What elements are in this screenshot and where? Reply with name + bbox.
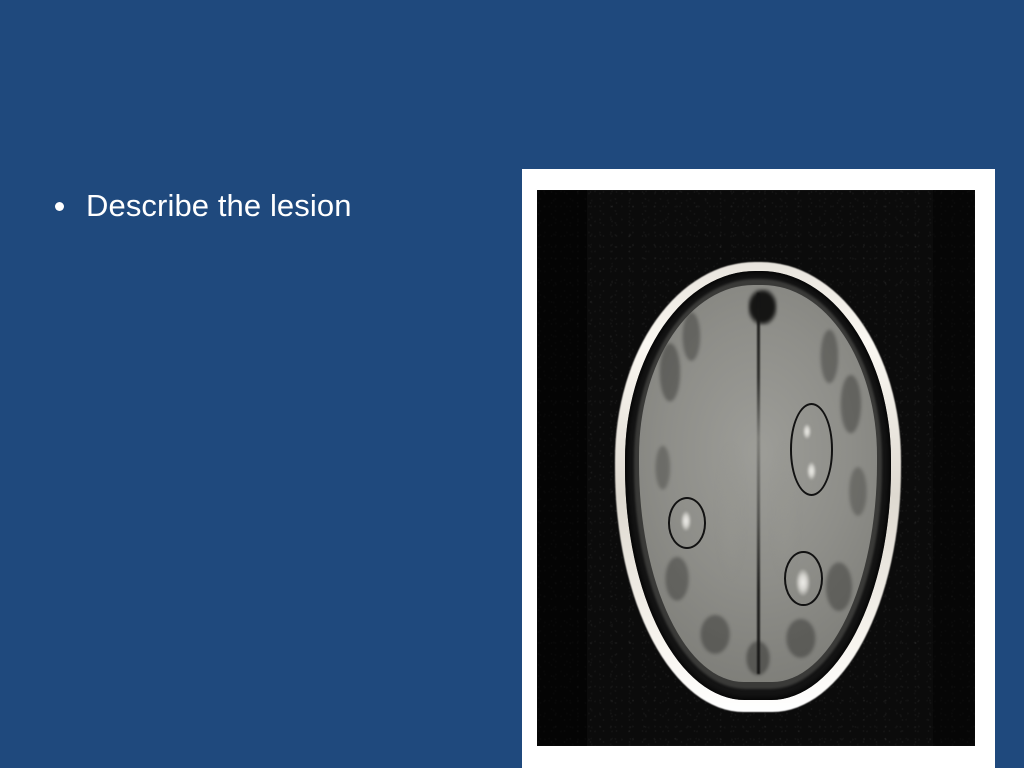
bullet-dot-icon: [55, 202, 64, 211]
brain-parenchyma: [639, 285, 877, 682]
frontal-vertex-notch: [748, 289, 777, 325]
figure-mat-bottom: [522, 748, 995, 768]
left-hemisphere-ellipse: [668, 497, 707, 549]
bullet-list: Describe the lesion: [55, 185, 485, 227]
right-frontal-periventricular-ellipse: [790, 403, 833, 496]
lateral-ventricle-left: [718, 444, 744, 579]
slide-canvas: Describe the lesion: [0, 0, 1024, 768]
head-cross-section: [615, 262, 901, 712]
bullet-text: Describe the lesion: [86, 185, 352, 227]
image-band-left: [537, 190, 587, 746]
mri-image-panel: [537, 190, 975, 746]
image-band-right: [933, 190, 975, 746]
list-item: Describe the lesion: [55, 185, 485, 227]
mri-figure-frame: [522, 169, 995, 768]
interhemispheric-fissure: [757, 293, 760, 674]
right-parietal-ellipse: [784, 551, 823, 606]
